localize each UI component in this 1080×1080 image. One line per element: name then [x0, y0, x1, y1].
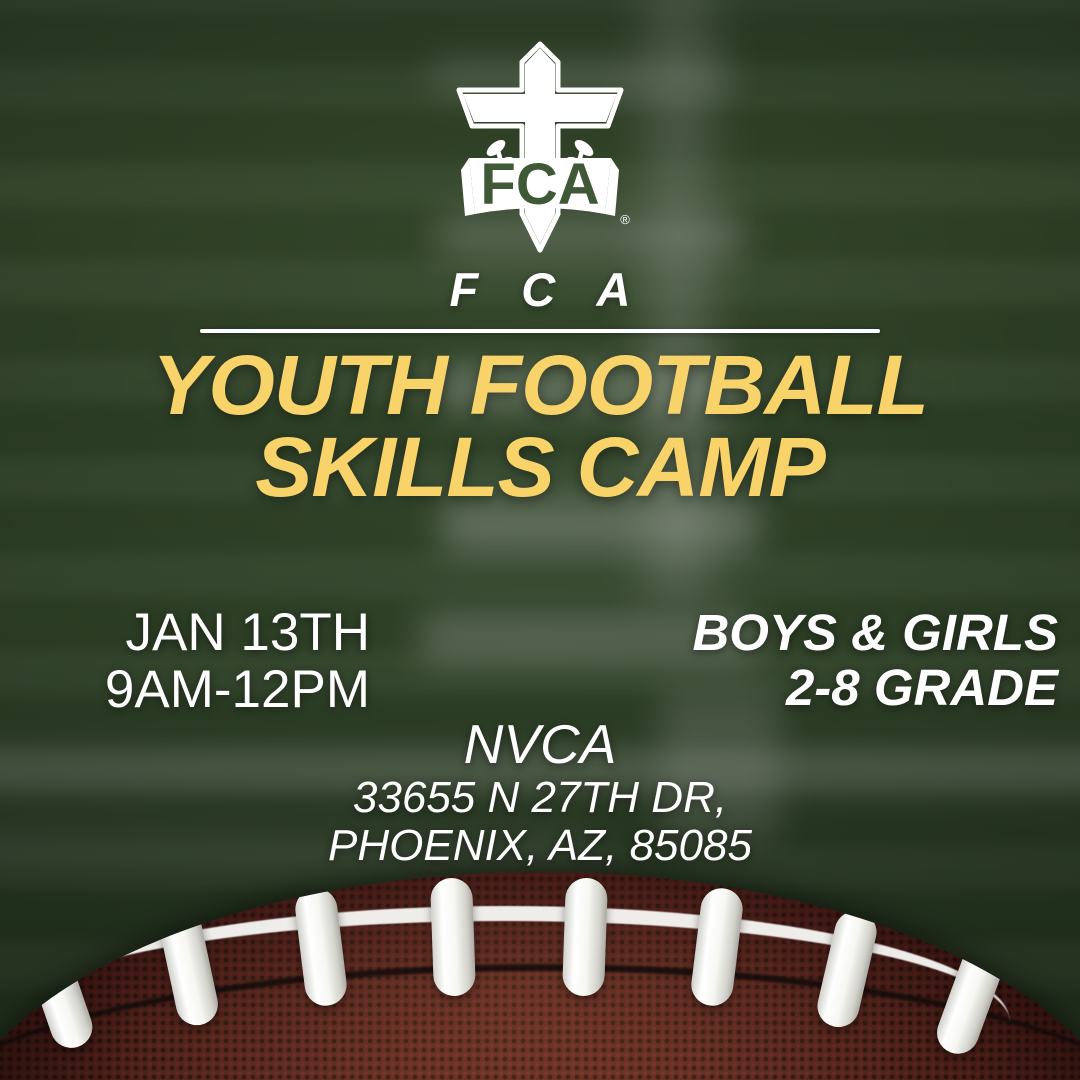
audience-gender: BOYS & GIRLS — [638, 605, 1058, 660]
fca-wordmark: F C A — [0, 262, 1080, 317]
page-title-line-1: YOUTH FOOTBALL — [152, 338, 928, 432]
fca-logo-banner-text: FCA — [480, 152, 599, 217]
poster-content: FCA ® F C A YOUTH FOOTBALL SKILLS CAMP J… — [0, 0, 1080, 1080]
registered-trademark-icon: ® — [620, 212, 630, 227]
event-audience: BOYS & GIRLS 2-8 GRADE — [638, 605, 1058, 715]
header-divider — [200, 329, 880, 333]
fca-logo-icon: FCA ® — [425, 38, 655, 256]
event-date-time: JAN 13TH 9AM-12PM — [40, 604, 370, 718]
venue-name: NVCA — [0, 715, 1080, 774]
page-title: YOUTH FOOTBALL SKILLS CAMP — [0, 344, 1080, 509]
audience-grades: 2-8 GRADE — [638, 660, 1058, 715]
event-venue: NVCA 33655 N 27TH DR, PHOENIX, AZ, 85085 — [0, 715, 1080, 869]
page-title-line-2: SKILLS CAMP — [0, 426, 1080, 508]
venue-street: 33655 N 27TH DR, — [0, 774, 1080, 822]
poster-canvas: FCA ® F C A YOUTH FOOTBALL SKILLS CAMP J… — [0, 0, 1080, 1080]
venue-city-state-zip: PHOENIX, AZ, 85085 — [0, 822, 1080, 870]
event-time: 9AM-12PM — [40, 661, 370, 718]
event-date: JAN 13TH — [40, 604, 370, 661]
